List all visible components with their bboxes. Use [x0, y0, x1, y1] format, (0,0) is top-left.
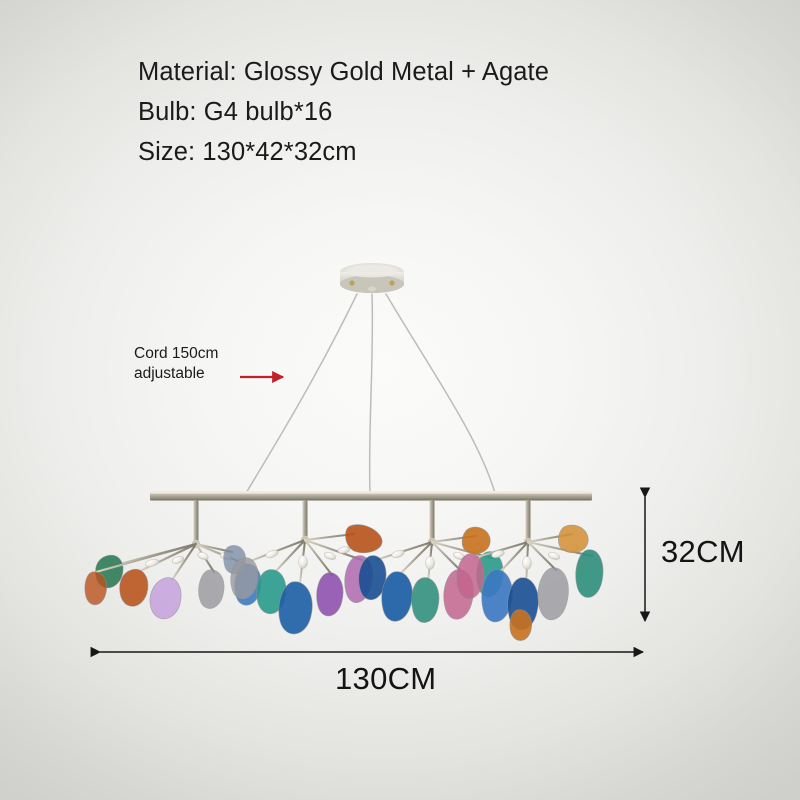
cord-center [370, 294, 373, 493]
product-photo-scene: Material: Glossy Gold Metal + Agate Bulb… [0, 0, 800, 800]
branch-cluster-2 [231, 500, 382, 634]
branch-cluster-4 [457, 500, 603, 641]
canopy-screw-right [389, 280, 394, 285]
cord-right [386, 294, 495, 493]
horizontal-bar [150, 491, 592, 501]
branch-cluster-1 [95, 500, 261, 619]
ceiling-canopy [340, 263, 404, 293]
canopy-screw-left [349, 280, 354, 285]
cord-left [246, 294, 357, 493]
chandelier-illustration [0, 0, 800, 800]
agate-leaf [85, 572, 107, 605]
suspension-cords [246, 294, 495, 493]
